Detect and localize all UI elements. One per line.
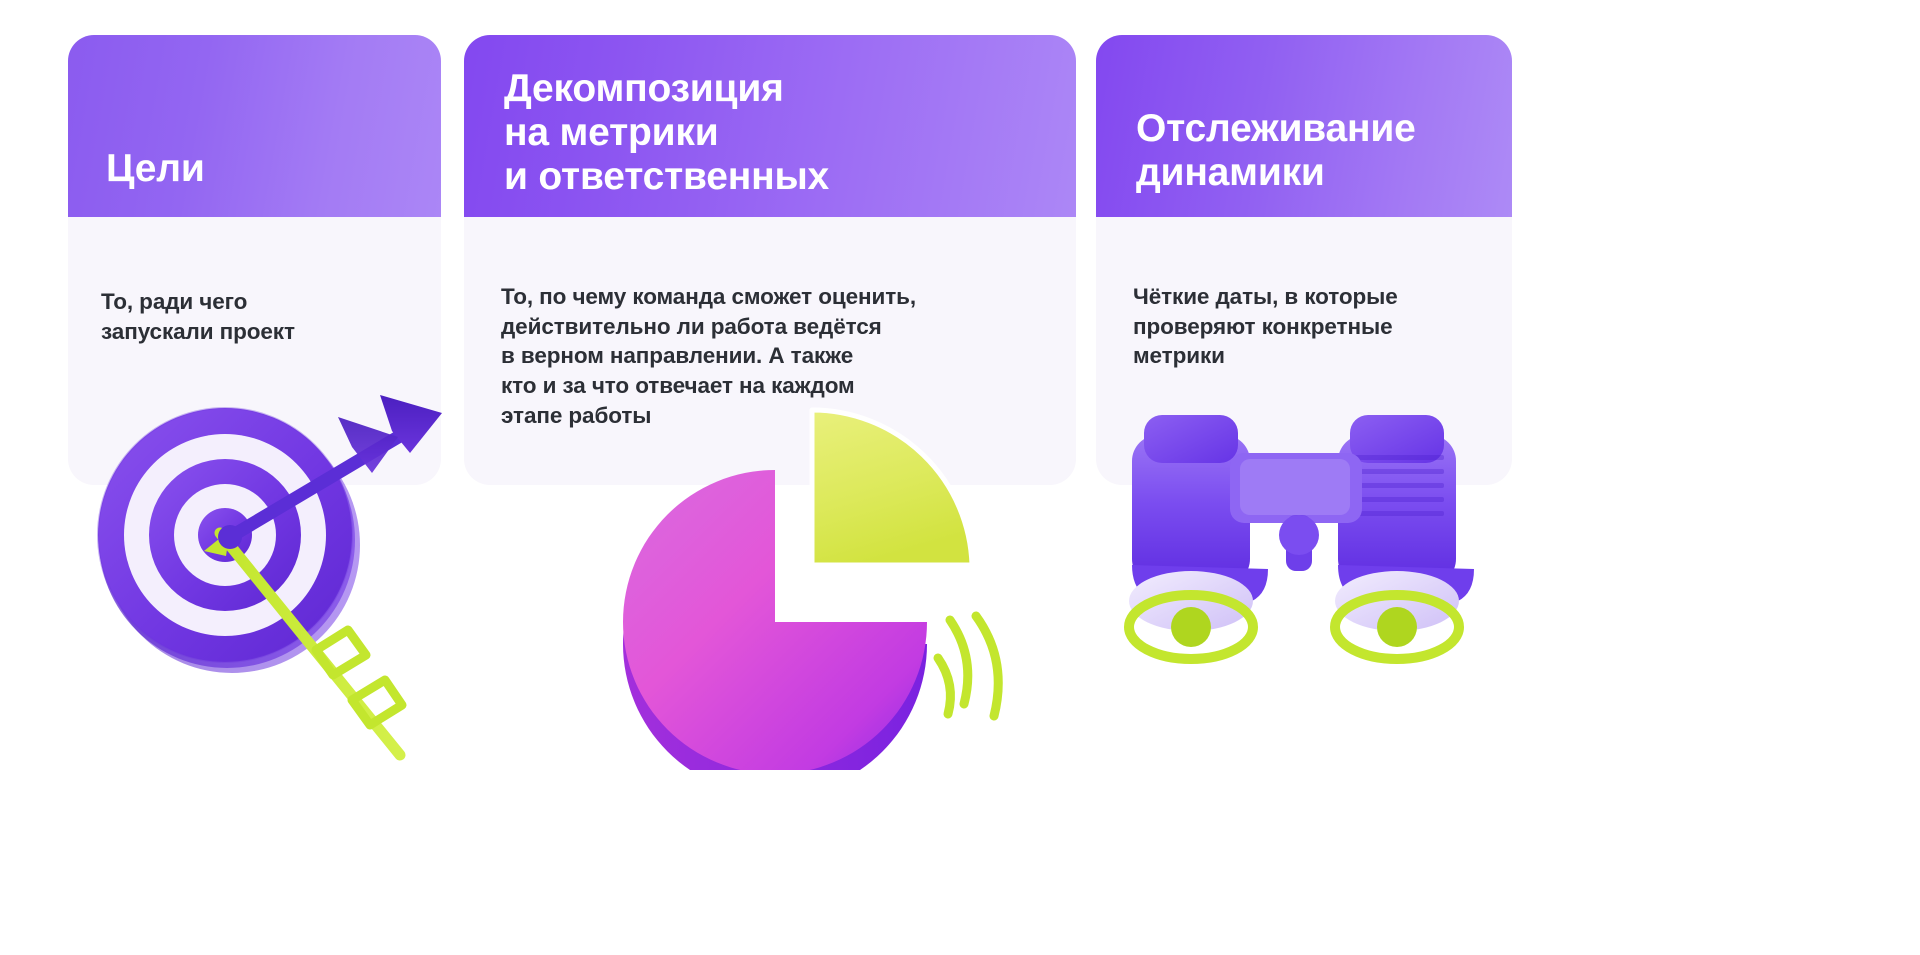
card-tracking-header: Отслеживание динамики [1096,35,1512,217]
card-goals-title: Цели [106,147,441,191]
card-tracking-description: Чёткие даты, в которые проверяют конкрет… [1133,282,1398,371]
card-decomposition-title: Декомпозиция на метрики и ответственных [504,67,1076,199]
binoculars-icon [1090,395,1520,695]
card-goals-header: Цели [68,35,441,217]
card-goals-description: То, ради чего запускали проект [101,287,295,346]
pie-chart-icon [620,370,1040,770]
target-icon [80,355,480,775]
poster-canvas: Цели То, ради чего запускали проект Деко… [0,0,1920,955]
card-decomposition-header: Декомпозиция на метрики и ответственных [464,35,1076,217]
card-tracking-title: Отслеживание динамики [1136,107,1512,195]
